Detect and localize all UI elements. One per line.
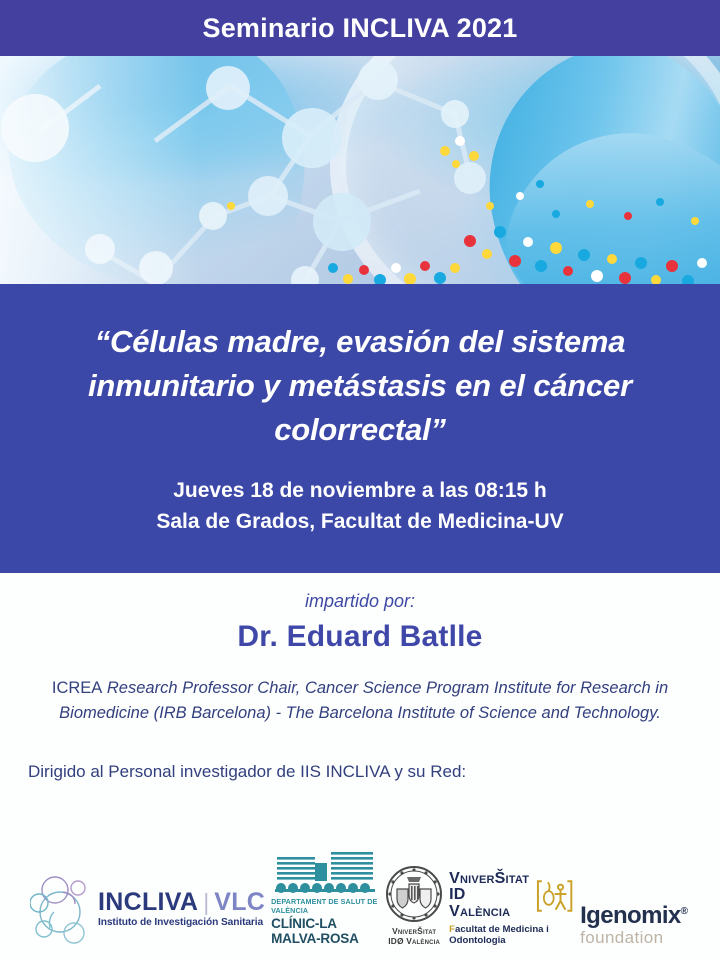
incliva-name: INCLIVA — [98, 890, 198, 915]
incliva-molecule-icon — [30, 872, 94, 946]
seminar-poster: Seminario INCLIVA 2021 — [0, 0, 720, 960]
crest-line1: VniverŠitat — [392, 926, 436, 936]
speaker-name: Dr. Eduard Batlle — [20, 620, 700, 654]
hero-image — [0, 56, 720, 284]
poster-title-band: Seminario INCLIVA 2021 — [0, 0, 720, 56]
igenomix-wordmark: Igenomix — [580, 902, 681, 929]
igenomix-subtitle: foundation — [580, 929, 663, 946]
incliva-vlc: VLC — [214, 890, 265, 915]
logo-departament-salut: DEPARTAMENT DE SALUT DE VALÈNCIA CLÍNIC-… — [271, 849, 379, 946]
affiliation-detail: Research Professor Chair, Cancer Science… — [59, 679, 668, 722]
medicine-dentistry-bracket-icon — [535, 879, 574, 913]
incliva-separator: | — [203, 891, 209, 914]
logo-facultat-medicina: VniverŠitat ID València — [449, 871, 574, 946]
logo-incliva: INCLIVA | VLC Instituto de Investigación… — [30, 872, 265, 946]
uvfac-subtitle: Facultat de Medicina i Odontologia — [449, 924, 574, 946]
logo-igenomix: Igenomix® foundation — [580, 904, 687, 946]
hospital-building-icon — [271, 849, 379, 895]
sponsor-logo-strip: INCLIVA | VLC Instituto de Investigación… — [20, 852, 700, 960]
uvfac-subtitle-text: acultat de Medicina i Odontologia — [449, 924, 549, 946]
uvfac-wordmark: VniverŠitat ID València — [449, 871, 530, 921]
uvfac-line1: VniverŠitat — [449, 871, 530, 888]
seminar-title-quote: “Células madre, evasión del sistema inmu… — [40, 308, 680, 452]
incliva-subtitle: Instituto de Investigación Sanitaria — [98, 918, 265, 928]
seminar-info-band: “Células madre, evasión del sistema inmu… — [0, 284, 720, 573]
uvfac-line2: ID València — [449, 887, 530, 921]
logo-universitat-valencia-crest: VniverŠitat IDØ València — [385, 865, 443, 946]
seminar-datetime: Jueves 18 de noviembre a las 08:15 h — [40, 476, 680, 506]
speaker-section: impartido por: Dr. Eduard Batlle ICREA R… — [0, 573, 720, 960]
igenomix-trademark: ® — [681, 906, 688, 917]
colored-beads-icon — [0, 56, 720, 284]
incliva-wordmark: INCLIVA | VLC Instituto de Investigación… — [98, 890, 265, 928]
salut-line1: DEPARTAMENT DE SALUT DE VALÈNCIA — [271, 897, 379, 915]
page-title: Seminario INCLIVA 2021 — [202, 13, 517, 44]
crest-line2: IDØ València — [388, 936, 440, 946]
salut-line2: CLÍNIC-LA MALVA-ROSA — [271, 916, 379, 946]
igenomix-name: Igenomix® — [580, 904, 687, 928]
affiliation-institution: ICREA — [52, 679, 102, 697]
seminar-schedule: Jueves 18 de noviembre a las 08:15 h Sal… — [40, 476, 680, 551]
seminar-location: Sala de Grados, Facultat de Medicina-UV — [40, 507, 680, 537]
target-audience-text: Dirigido al Personal investigador de IIS… — [20, 762, 700, 782]
speaker-affiliation: ICREA Research Professor Chair, Cancer S… — [20, 676, 700, 726]
university-crest-icon — [385, 865, 443, 923]
speaker-intro-label: impartido por: — [20, 591, 700, 612]
